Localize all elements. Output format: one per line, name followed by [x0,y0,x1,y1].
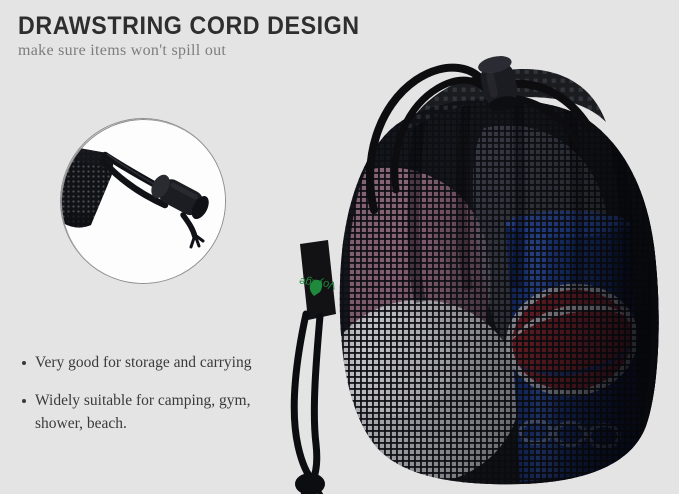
cord-tail-strand-b [312,316,320,482]
cord-lock-illustration [61,119,226,284]
feature-list: Very good for storage and carrying Widel… [22,352,297,451]
mesh-bag-illustration: Voyage [270,40,679,494]
brand-tag: Voyage [299,240,337,320]
product-photo-mesh-bag: Voyage [270,40,679,494]
bag-body [270,40,679,494]
list-item: Very good for storage and carrying [22,352,297,374]
feature-text: Widely suitable for camping, gym, shower… [35,390,297,435]
page-title: DRAWSTRING CORD DESIGN [18,12,360,41]
page-subtitle: make sure items won't spill out [18,42,226,60]
bullet-dot-icon [22,399,26,403]
hanging-cord [294,314,326,494]
bullet-dot-icon [22,361,26,365]
list-item: Widely suitable for camping, gym, shower… [22,390,297,435]
feature-text: Very good for storage and carrying [35,352,297,374]
cord-lock-inset-image [60,118,226,284]
product-marketing-banner: DRAWSTRING CORD DESIGN make sure items w… [0,0,679,494]
